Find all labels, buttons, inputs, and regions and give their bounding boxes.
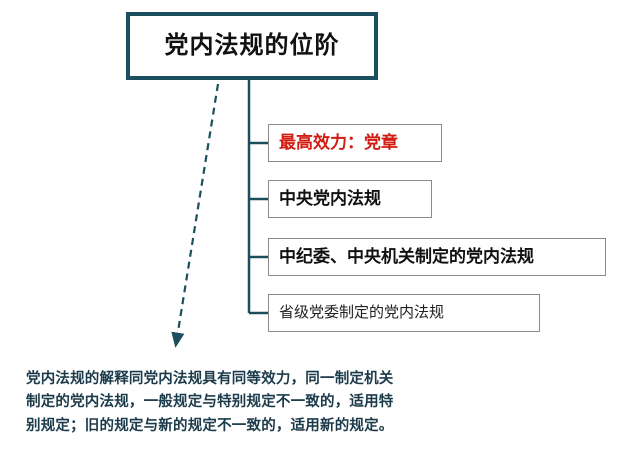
level-box-central-agency-regulations[interactable]: 中纪委、中央机关制定的党内法规 <box>268 238 606 276</box>
level-box-central-regulations[interactable]: 中央党内法规 <box>268 180 432 218</box>
footnote-line-1: 党内法规的解释同党内法规具有同等效力，同一制定机关 <box>26 368 496 391</box>
footnote-line-3: 别规定；旧的规定与新的规定不一致的，适用新的规定。 <box>26 415 496 438</box>
level-box-provincial-regulations[interactable]: 省级党委制定的党内法规 <box>268 294 540 332</box>
dashed-arrow <box>176 84 218 344</box>
diagram-title-box: 党内法规的位阶 <box>126 12 378 80</box>
diagram-canvas: 党内法规的位阶 最高效力：党章 中央党内法规 中纪委、中央机关制定的党内法规 省… <box>0 0 631 462</box>
level-label-2: 中纪委、中央机关制定的党内法规 <box>279 247 534 267</box>
level-box-highest-authority[interactable]: 最高效力：党章 <box>268 124 442 162</box>
level-label-0: 最高效力：党章 <box>279 133 398 153</box>
page-title: 党内法规的位阶 <box>165 32 340 61</box>
level-label-3: 省级党委制定的党内法规 <box>279 304 444 322</box>
footnote-line-2: 制定的党内法规，一般规定与特别规定不一致的，适用特 <box>26 391 496 414</box>
footnote-block: 党内法规的解释同党内法规具有同等效力，同一制定机关 制定的党内法规，一般规定与特… <box>26 368 496 438</box>
level-label-1: 中央党内法规 <box>279 189 381 209</box>
